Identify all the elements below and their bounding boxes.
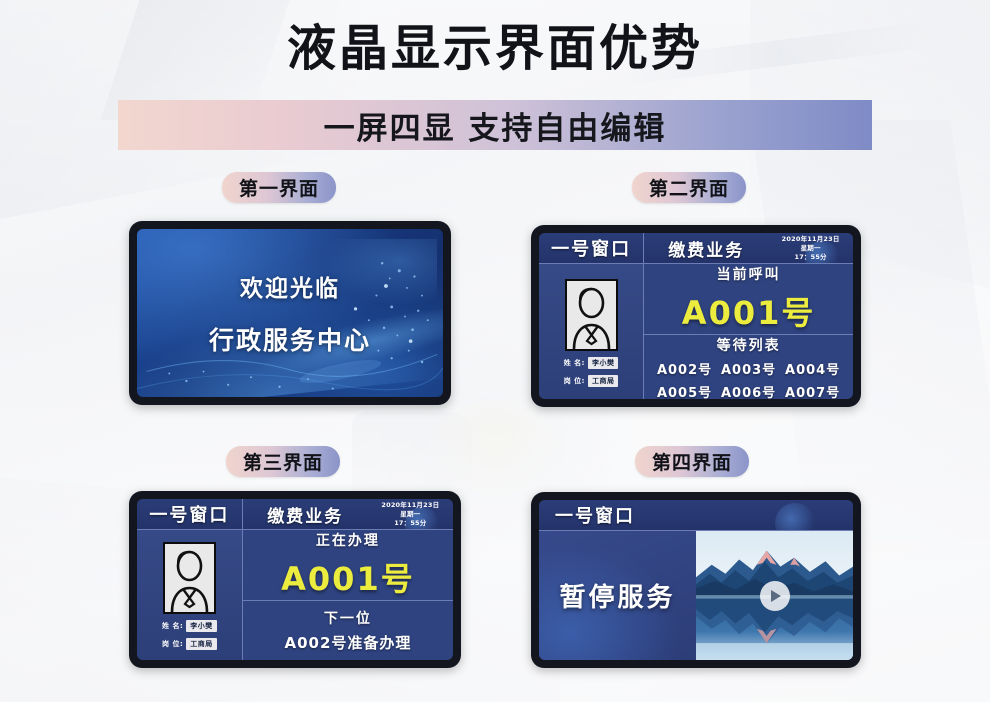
monitor-1: 欢迎光临 行政服务中心 (129, 221, 451, 405)
clock-weekday-2: 星期一 (801, 244, 821, 252)
monitor-4: 一号窗口 暂停服务 (531, 492, 861, 668)
queue-body-3: 姓 名: 李小樊 岗 位: 工商局 正在办理 A001号 下一位 (137, 530, 453, 660)
clock-time-3: 17：55分 (394, 519, 426, 527)
queue-right-3: 正在办理 A001号 下一位 A002号准备办理 (243, 530, 453, 660)
welcome-screen: 欢迎光临 行政服务中心 (137, 229, 443, 397)
staff-name-row-2: 姓 名: 李小樊 (564, 357, 619, 369)
queue-right-2: 当前呼叫 A001号 等待列表 A002号 A003号 A004号 A005号 … (644, 264, 853, 399)
staff-name-value-3: 李小樊 (186, 620, 217, 632)
staff-panel-2: 姓 名: 李小樊 岗 位: 工商局 (539, 264, 644, 399)
staff-name-value-2: 李小樊 (588, 357, 619, 369)
next-detail: A002号准备办理 (284, 632, 411, 653)
window-name-3: 一号窗口 (137, 499, 243, 529)
paused-status-area: 暂停服务 (539, 531, 696, 660)
queue-header-3: 一号窗口 缴费业务 2020年11月23日 星期一 17：55分 (137, 499, 453, 530)
paused-screen: 一号窗口 暂停服务 (539, 500, 853, 660)
waiting-list-panel: 等待列表 A002号 A003号 A004号 A005号 A006号 A007号 (644, 334, 853, 399)
person-avatar-icon (567, 281, 616, 349)
page-title: 液晶显示界面优势 (0, 18, 990, 80)
current-call-panel: 当前呼叫 A001号 (644, 264, 853, 334)
subtitle-text: 一屏四显 支持自由编辑 (324, 103, 667, 148)
staff-post-value-2: 工商局 (588, 375, 619, 387)
staff-post-row-3: 岗 位: 工商局 (162, 638, 217, 650)
avatar (163, 542, 216, 614)
waiting-ticket: A003号 (721, 359, 776, 378)
current-call-title: 当前呼叫 (717, 264, 781, 284)
poster-root: 液晶显示界面优势 一屏四显 支持自由编辑 第一界面 第二界面 第三界面 第四界面 (0, 0, 990, 702)
current-call-ticket: A001号 (682, 288, 816, 334)
monitor-2: 一号窗口 缴费业务 2020年11月23日 星期一 17：55分 (531, 225, 861, 407)
person-avatar-icon (165, 544, 214, 612)
queue-calling-screen: 一号窗口 缴费业务 2020年11月23日 星期一 17：55分 (539, 233, 853, 399)
waiting-list-title: 等待列表 (717, 335, 781, 355)
staff-name-key-3: 姓 名: (162, 621, 183, 631)
waiting-ticket: A002号 (657, 359, 712, 378)
welcome-line-1: 欢迎光临 (240, 269, 340, 303)
staff-post-row-2: 岗 位: 工商局 (564, 375, 619, 387)
waiting-ticket: A005号 (657, 382, 712, 399)
waiting-list-grid: A002号 A003号 A004号 A005号 A006号 A007号 (653, 359, 845, 399)
clock-date-3: 2020年11月23日 (381, 501, 439, 509)
staff-panel-3: 姓 名: 李小樊 岗 位: 工商局 (137, 530, 243, 660)
clock-block-2: 2020年11月23日 星期一 17：55分 (768, 233, 853, 263)
welcome-line-2: 行政服务中心 (209, 321, 371, 357)
waiting-ticket: A007号 (785, 382, 840, 399)
service-name-3: 缴费业务 (243, 499, 368, 529)
screen-label-3: 第三界面 (226, 446, 340, 477)
queue-serving-screen: 一号窗口 缴费业务 2020年11月23日 星期一 17：55分 (137, 499, 453, 660)
clock-block-3: 2020年11月23日 星期一 17：55分 (368, 499, 453, 529)
window-name-2: 一号窗口 (539, 233, 644, 263)
queue-body-2: 姓 名: 李小樊 岗 位: 工商局 当前呼叫 A001号 等待列表 (539, 264, 853, 399)
paused-header: 一号窗口 (539, 500, 853, 531)
clock-time-2: 17：55分 (794, 253, 826, 261)
waiting-ticket: A004号 (785, 359, 840, 378)
play-icon[interactable] (760, 581, 790, 611)
clock-weekday-3: 星期一 (400, 510, 420, 518)
next-title: 下一位 (324, 608, 372, 628)
waiting-ticket: A006号 (721, 382, 776, 399)
staff-post-key-3: 岗 位: (162, 639, 183, 649)
particle-decor-icon (137, 229, 443, 397)
status-text: 暂停服务 (559, 577, 675, 614)
serving-panel: 正在办理 A001号 (243, 530, 453, 600)
serving-title: 正在办理 (316, 530, 380, 550)
staff-post-value-3: 工商局 (186, 638, 217, 650)
serving-ticket: A001号 (281, 554, 415, 600)
queue-header-2: 一号窗口 缴费业务 2020年11月23日 星期一 17：55分 (539, 233, 853, 264)
service-name-2: 缴费业务 (644, 233, 768, 263)
paused-body: 暂停服务 (539, 531, 853, 660)
monitor-3: 一号窗口 缴费业务 2020年11月23日 星期一 17：55分 (129, 491, 461, 668)
staff-name-row-3: 姓 名: 李小樊 (162, 620, 217, 632)
avatar (565, 279, 618, 351)
screen-label-1: 第一界面 (222, 172, 336, 203)
clock-date-2: 2020年11月23日 (782, 235, 840, 243)
video-player[interactable] (696, 531, 853, 660)
next-panel: 下一位 A002号准备办理 (243, 600, 453, 660)
screen-label-2: 第二界面 (632, 172, 746, 203)
subtitle-band: 一屏四显 支持自由编辑 (118, 100, 872, 150)
staff-post-key-2: 岗 位: (564, 376, 585, 386)
staff-name-key-2: 姓 名: (564, 358, 585, 368)
window-name-4: 一号窗口 (555, 502, 635, 528)
screen-label-4: 第四界面 (635, 446, 749, 477)
